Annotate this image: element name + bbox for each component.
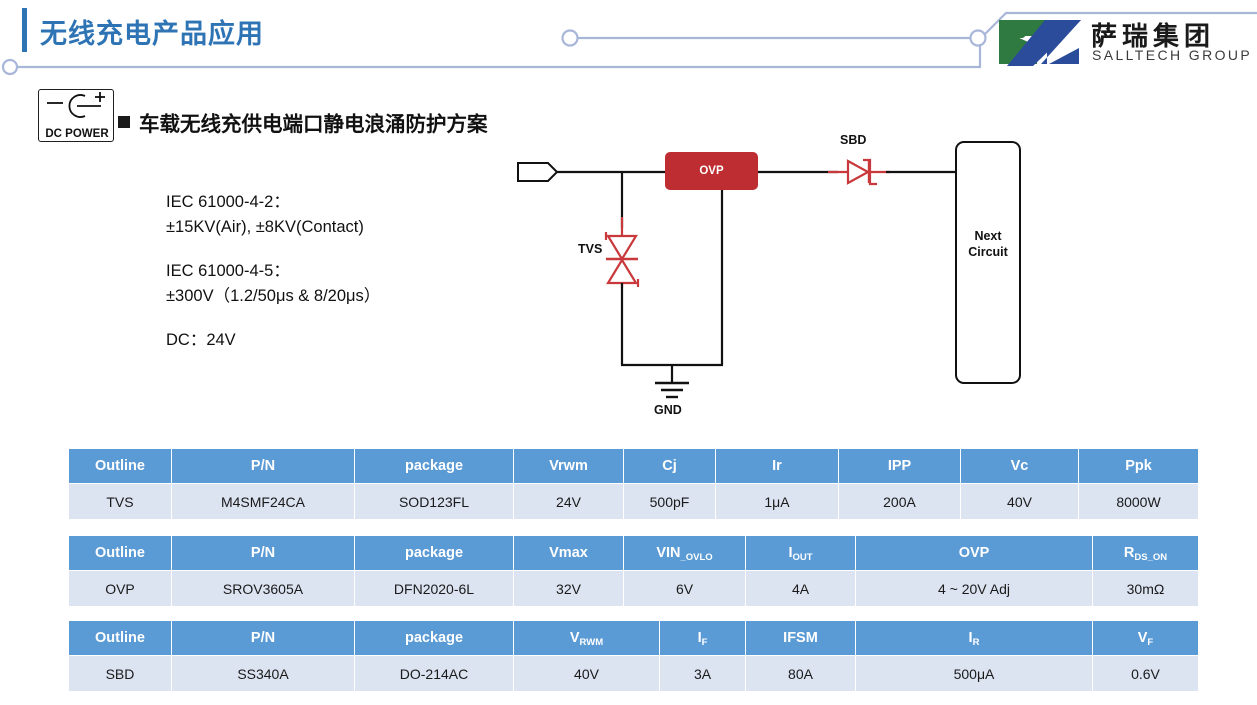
next-circuit-block [955,141,1021,384]
table-row: TVS M4SMF24CA SOD123FL 24V 500pF 1μA 200… [69,484,1199,520]
next-circuit-line1: Next [974,229,1001,243]
col-header-ppk: Ppk [1079,449,1199,484]
cell-rdson: 30mΩ [1093,571,1199,607]
next-circuit-label: Next Circuit [955,228,1021,260]
col-header-pn: P/N [172,621,355,656]
col-header-ir-sub: R [973,637,980,648]
table-row: SBD SS340A DO-214AC 40V 3A 80A 500μA 0.6… [69,656,1199,692]
col-header-if: IF [660,621,746,656]
cell-cj: 500pF [624,484,716,520]
col-header-ir: Ir [716,449,839,484]
cell-vrwm: 40V [514,656,660,692]
col-header-ovp: OVP [856,536,1093,571]
next-circuit-line2: Circuit [968,245,1008,259]
table-header-row: Outline P/N package VRWM IF IFSM IR VF [69,621,1199,656]
cell-outline: SBD [69,656,172,692]
col-header-vrwm-base: V [570,630,580,646]
ground-icon [655,383,689,397]
col-header-vrwm-sub: RWM [580,637,604,648]
col-header-outline: Outline [69,536,172,571]
col-header-if-base: I [698,630,702,646]
col-header-ifsm: IFSM [746,621,856,656]
col-header-ir-base: I [969,630,973,646]
table-tvs: Outline P/N package Vrwm Cj Ir IPP Vc Pp… [68,448,1199,520]
cell-pn: M4SMF24CA [172,484,355,520]
col-header-ir: IR [856,621,1093,656]
cell-pn: SROV3605A [172,571,355,607]
col-header-vc: Vc [961,449,1079,484]
col-header-vmax: Vmax [514,536,624,571]
cell-package: DFN2020-6L [355,571,514,607]
col-header-package: package [355,449,514,484]
col-header-package: package [355,536,514,571]
cell-iout: 4A [746,571,856,607]
circuit-diagram [0,0,1257,440]
tvs-diode-icon [606,232,638,287]
col-header-if-sub: F [702,637,708,648]
col-header-vin-sub: _OVLO [680,552,712,563]
cell-ppk: 8000W [1079,484,1199,520]
cell-ifsm: 80A [746,656,856,692]
col-header-package: package [355,621,514,656]
cell-ir: 500μA [856,656,1093,692]
ovp-block: OVP [665,152,758,190]
table-row: OVP SROV3605A DFN2020-6L 32V 6V 4A 4 ~ 2… [69,571,1199,607]
col-header-rdson-base: R [1124,545,1134,561]
cell-vf: 0.6V [1093,656,1199,692]
cell-package: DO-214AC [355,656,514,692]
col-header-vf: VF [1093,621,1199,656]
table-header-row: Outline P/N package Vrwm Cj Ir IPP Vc Pp… [69,449,1199,484]
col-header-vrwm: Vrwm [514,449,624,484]
cell-outline: TVS [69,484,172,520]
cell-vrwm: 24V [514,484,624,520]
col-header-ipp: IPP [839,449,961,484]
gnd-label: GND [654,403,682,417]
cell-package: SOD123FL [355,484,514,520]
sbd-label: SBD [840,133,866,147]
cell-outline: OVP [69,571,172,607]
tvs-label: TVS [578,242,602,256]
col-header-rdson: RDS_ON [1093,536,1199,571]
table-sbd: Outline P/N package VRWM IF IFSM IR VF S… [68,620,1199,692]
col-header-iout-sub: OUT [792,552,812,563]
table-header-row: Outline P/N package Vmax VIN_OVLO IOUT O… [69,536,1199,571]
input-connector-icon [518,163,557,181]
ovp-block-label: OVP [665,152,758,190]
col-header-outline: Outline [69,449,172,484]
col-header-vin-ovlo: VIN_OVLO [624,536,746,571]
cell-ir: 1μA [716,484,839,520]
table-ovp: Outline P/N package Vmax VIN_OVLO IOUT O… [68,535,1199,607]
cell-vin-ovlo: 6V [624,571,746,607]
col-header-pn: P/N [172,449,355,484]
cell-ovp: 4 ~ 20V Adj [856,571,1093,607]
col-header-vrwm: VRWM [514,621,660,656]
cell-vc: 40V [961,484,1079,520]
col-header-vf-base: V [1138,630,1148,646]
col-header-cj: Cj [624,449,716,484]
col-header-iout: IOUT [746,536,856,571]
col-header-pn: P/N [172,536,355,571]
col-header-vin-base: VIN [656,545,680,561]
cell-vmax: 32V [514,571,624,607]
cell-if: 3A [660,656,746,692]
cell-ipp: 200A [839,484,961,520]
col-header-outline: Outline [69,621,172,656]
col-header-rdson-sub: DS_ON [1134,552,1167,563]
col-header-vf-sub: F [1147,637,1153,648]
cell-pn: SS340A [172,656,355,692]
